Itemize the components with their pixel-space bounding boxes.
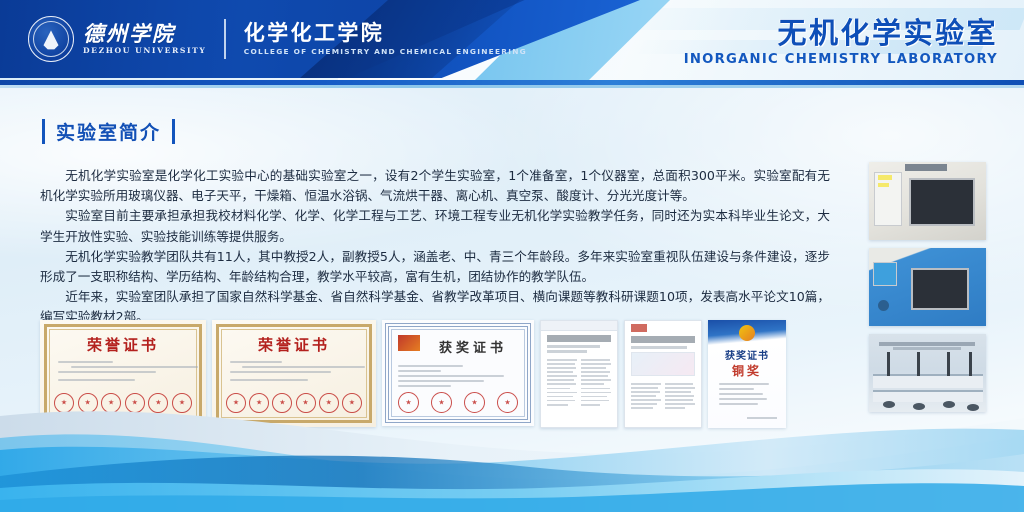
laboratory-introduction: 无机化学实验室是化学化工实验中心的基础实验室之一，设有2个学生实验室，1个准备室…: [40, 166, 830, 328]
intro-paragraph-1: 无机化学实验室是化学化工实验中心的基础实验室之一，设有2个学生实验室，1个准备室…: [40, 166, 830, 206]
oven-window: [909, 178, 975, 226]
oven-knob: [878, 300, 889, 311]
paper-masthead: [541, 321, 617, 331]
certificate-title-2: 荣誉证书: [212, 334, 376, 355]
laboratory-title-block: 无机化学实验室 INORGANIC CHEMISTRY LABORATORY: [684, 18, 998, 67]
competition-logo-icon: [739, 325, 755, 341]
university-name-cn: 德州学院: [83, 23, 206, 45]
paper-title-block: [547, 335, 611, 342]
title-bar-left: [42, 119, 45, 144]
paper-authors: [631, 346, 687, 349]
certificate-body-lines: [58, 358, 190, 384]
university-name-block: 德州学院 DEZHOU UNIVERSITY: [83, 23, 206, 55]
bench-post-1: [887, 352, 890, 376]
bench-post-4: [969, 352, 972, 376]
photo-drying-oven-blue[interactable]: [869, 248, 986, 326]
decorative-wave-footer: [0, 392, 1024, 512]
university-name-en: DEZHOU UNIVERSITY: [83, 46, 206, 55]
section-title: 实验室简介: [42, 118, 175, 145]
bench-post-2: [917, 352, 920, 376]
oven-top-vent: [905, 164, 947, 171]
intro-paragraph-3: 无机化学实验教学团队共有11人，其中教授2人，副教授5人，涵盖老、中、青三个年龄…: [40, 247, 830, 287]
intro-paragraph-2: 实验室目前主要承担承担我校材料化学、化学、化学工程与工艺、环境工程专业无机化学实…: [40, 206, 830, 246]
paper-affiliation: [547, 350, 587, 353]
oven-label-sticker: [878, 175, 892, 180]
paper-title-block: [631, 336, 695, 343]
page-header: 德州学院 DEZHOU UNIVERSITY 化学化工学院 COLLEGE OF…: [0, 0, 1024, 88]
college-name-en: COLLEGE OF CHEMISTRY AND CHEMICAL ENGINE…: [244, 47, 527, 56]
bronze-certificate-title: 获奖证书: [708, 347, 786, 362]
branding-divider: [224, 19, 225, 59]
title-bar-right: [172, 119, 175, 144]
college-name-cn: 化学化工学院: [244, 22, 527, 44]
laboratory-title-cn: 无机化学实验室: [684, 18, 998, 50]
journal-logo-icon: [631, 324, 647, 332]
paper-graphical-abstract: [631, 352, 695, 376]
poster-page: 德州学院 DEZHOU UNIVERSITY 化学化工学院 COLLEGE OF…: [0, 0, 1024, 512]
college-name-block: 化学化工学院 COLLEGE OF CHEMISTRY AND CHEMICAL…: [244, 22, 527, 55]
bronze-certificate-subtitle: 铜奖: [708, 362, 786, 379]
laboratory-photos: [869, 162, 986, 412]
award-body-lines: [398, 362, 518, 390]
university-branding: 德州学院 DEZHOU UNIVERSITY 化学化工学院 COLLEGE OF…: [28, 16, 527, 62]
certificate-title-1: 荣誉证书: [40, 334, 206, 355]
oven-display-panel: [873, 262, 897, 286]
oven-window: [911, 268, 969, 310]
oven-label-sticker-2: [878, 183, 889, 187]
oven-control-panel: [874, 172, 902, 226]
lab-bench-back: [873, 374, 983, 388]
laboratory-title-en: INORGANIC CHEMISTRY LABORATORY: [684, 52, 998, 67]
section-title-text: 实验室简介: [56, 118, 161, 145]
university-emblem-icon: [28, 16, 74, 62]
ceiling-duct: [879, 342, 975, 346]
award-certificate-title: 获奖证书: [412, 337, 534, 356]
bench-post-3: [947, 352, 950, 376]
header-rule-secondary: [0, 85, 1024, 88]
certificate-body-lines: [230, 358, 360, 384]
paper-authors: [547, 345, 600, 348]
photo-drying-oven-white[interactable]: [869, 162, 986, 240]
ceiling-rail: [893, 347, 961, 350]
